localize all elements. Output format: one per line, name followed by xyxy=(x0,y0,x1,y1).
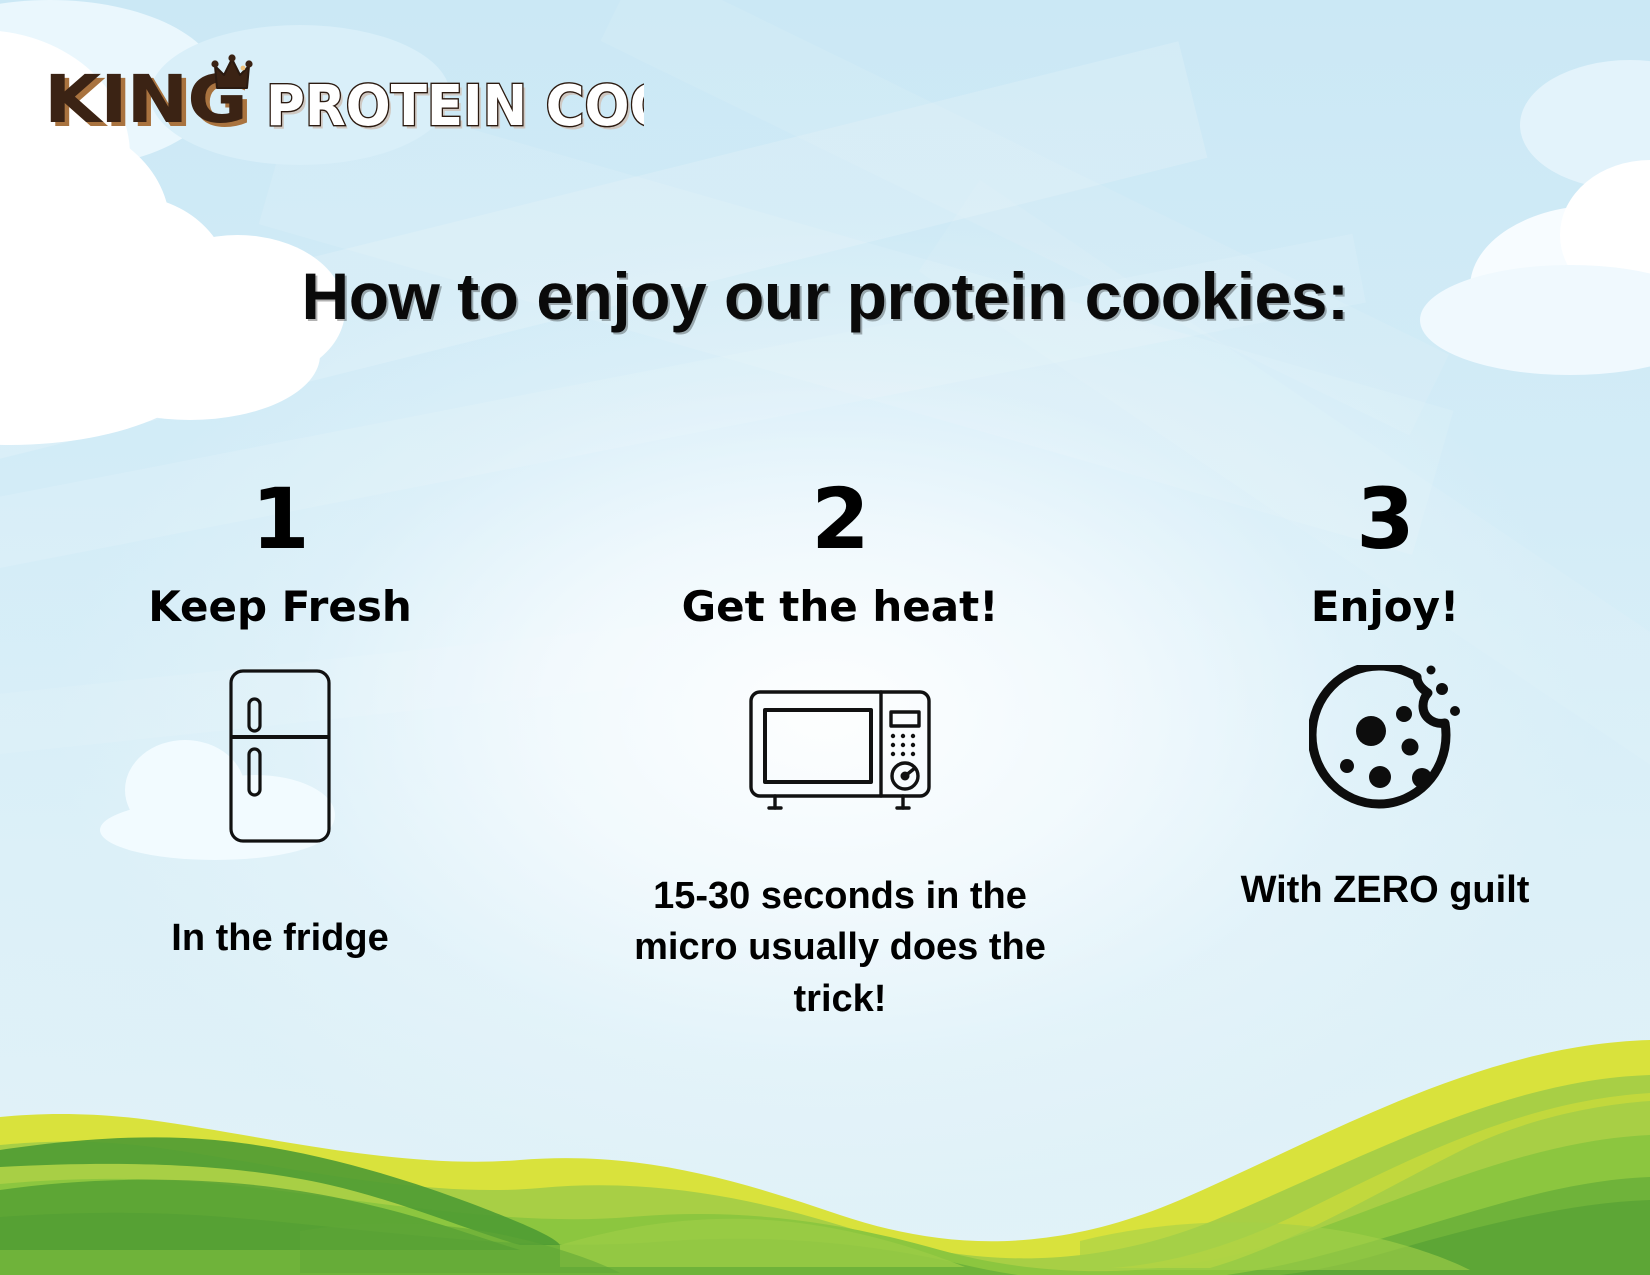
step-card-3: 3 Enjoy! xyxy=(1120,480,1650,1026)
step-title: Keep Fresh xyxy=(0,582,560,631)
microwave-icon xyxy=(747,688,933,816)
step-number: 3 xyxy=(1120,480,1650,560)
brand-logo: KING KING PROTEIN COOKIES PROTEIN COOKIE… xyxy=(44,56,644,136)
slide-canvas: KING KING PROTEIN COOKIES PROTEIN COOKIE… xyxy=(0,0,1650,1275)
step-description: With ZERO guilt xyxy=(1120,865,1650,917)
logo-protein-cookies-text: PROTEIN COOKIES PROTEIN COOKIES xyxy=(266,73,644,136)
steps-row: 1 Keep Fresh In the fridge 2 Get the hea… xyxy=(0,480,1650,1026)
step-description: In the fridge xyxy=(0,913,560,965)
step-number: 1 xyxy=(0,480,560,560)
svg-text:PROTEIN COOKIES: PROTEIN COOKIES xyxy=(266,73,644,136)
step-title: Enjoy! xyxy=(1120,582,1650,631)
step-icon-wrap xyxy=(560,657,1120,847)
step-title: Get the heat! xyxy=(560,582,1120,631)
crown-icon xyxy=(211,54,252,88)
step-icon-wrap xyxy=(0,661,560,851)
cookie-bite-icon xyxy=(1309,665,1461,815)
step-icon-wrap xyxy=(1120,645,1650,835)
refrigerator-icon xyxy=(225,667,335,845)
brand-logo-svg: KING KING PROTEIN COOKIES PROTEIN COOKIE… xyxy=(44,52,644,136)
page-title: How to enjoy our protein cookies: xyxy=(0,258,1650,334)
step-card-1: 1 Keep Fresh In the fridge xyxy=(0,480,560,1026)
step-card-2: 2 Get the heat! xyxy=(560,480,1120,1026)
step-description: 15-30 seconds in the micro usually does … xyxy=(560,871,1120,1026)
step-number: 2 xyxy=(560,480,1120,560)
